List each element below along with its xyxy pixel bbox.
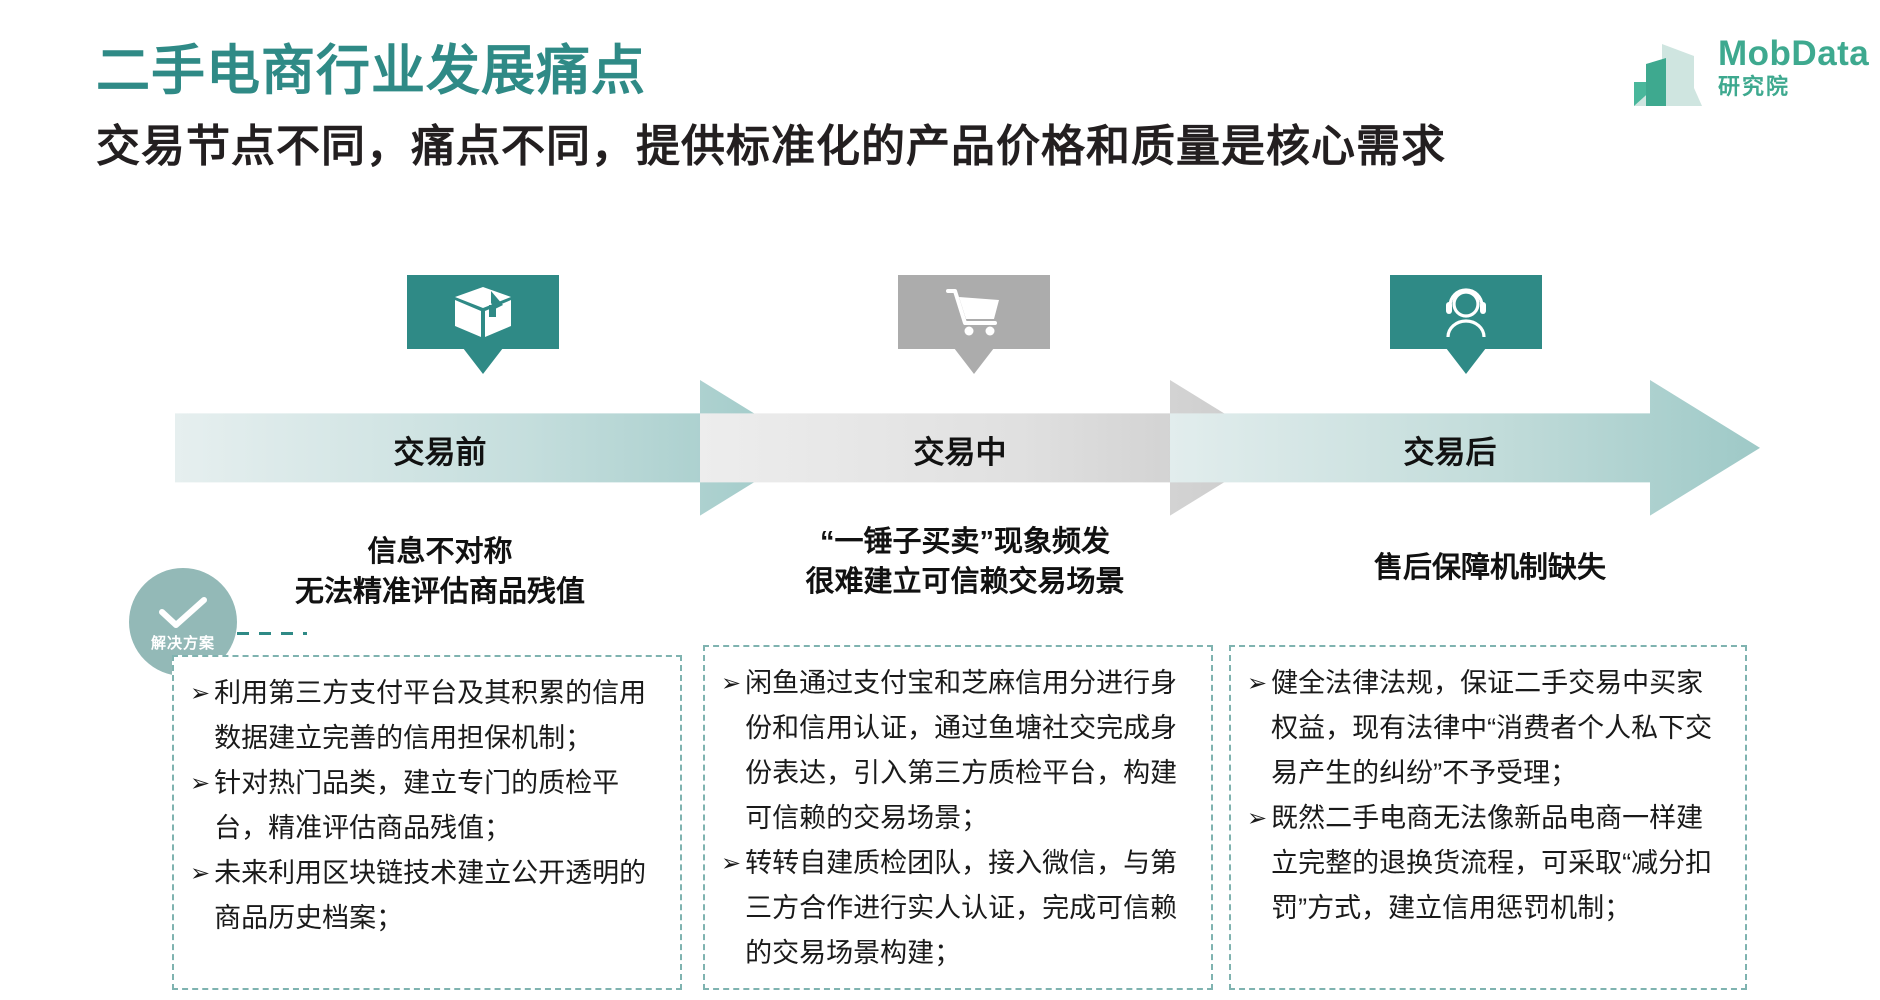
bullet-marker: ➢ <box>721 661 741 841</box>
bullet-marker: ➢ <box>190 851 210 941</box>
solution-item: ➢ 未来利用区块链技术建立公开透明的商品历史档案； <box>190 851 664 941</box>
solution-item: ➢ 针对热门品类，建立专门的质检平台，精准评估商品残值； <box>190 761 664 851</box>
bullet-marker: ➢ <box>190 671 210 761</box>
stage-icon-bubble-post <box>1390 275 1542 355</box>
pain-line: 无法精准评估商品残值 <box>180 572 700 612</box>
pain-line: 信息不对称 <box>180 532 700 572</box>
page-subtitle: 交易节点不同，痛点不同，提供标准化的产品价格和质量是核心需求 <box>96 110 1446 174</box>
solution-badge-label: 解决方案 <box>151 632 215 653</box>
bubble-tail <box>1446 348 1486 374</box>
pain-heading-during: “一锤子买卖”现象频发 很难建立可信赖交易场景 <box>705 522 1225 602</box>
headset-support-icon <box>1434 283 1498 341</box>
solution-item: ➢ 利用第三方支付平台及其积累的信用数据建立完善的信用担保机制； <box>190 671 664 761</box>
solution-box-during: ➢ 闲鱼通过支付宝和芝麻信用分进行身份和信用认证，通过鱼塘社交完成身份表达，引入… <box>703 645 1213 990</box>
mobdata-logo: MobData 研究院 <box>1632 36 1862 116</box>
pain-heading-pre: 信息不对称 无法精准评估商品残值 <box>180 532 700 612</box>
solution-item: ➢ 闲鱼通过支付宝和芝麻信用分进行身份和信用认证，通过鱼塘社交完成身份表达，引入… <box>721 661 1195 841</box>
slide-canvas: 二手电商行业发展痛点 交易节点不同，痛点不同，提供标准化的产品价格和质量是核心需… <box>0 0 1880 1000</box>
solution-item-text: 转转自建质检团队，接入微信，与第三方合作进行实人认证，完成可信赖的交易场景构建； <box>745 841 1195 976</box>
solution-item: ➢ 既然二手电商无法像新品电商一样建立完整的退换货流程，可采取“减分扣罚”方式，… <box>1247 796 1729 931</box>
stage-label-pre: 交易前 <box>340 427 540 472</box>
stage-icon-bubble-during <box>898 275 1050 355</box>
page-title: 二手电商行业发展痛点 <box>96 26 646 105</box>
mobdata-building-logo-icon <box>1632 42 1706 108</box>
stage-label-post: 交易后 <box>1350 427 1550 472</box>
solution-box-post: ➢ 健全法律法规，保证二手交易中买家权益，现有法律中“消费者个人私下交易产生的纠… <box>1229 645 1747 990</box>
solution-item-text: 闲鱼通过支付宝和芝麻信用分进行身份和信用认证，通过鱼塘社交完成身份表达，引入第三… <box>745 661 1195 841</box>
pain-heading-post: 售后保障机制缺失 <box>1230 548 1750 588</box>
stage-icon-bubble-pre <box>407 275 559 355</box>
logo-subname: 研究院 <box>1718 74 1869 100</box>
badge-connector-horizontal <box>237 632 307 635</box>
bullet-marker: ➢ <box>190 761 210 851</box>
bullet-marker: ➢ <box>1247 796 1267 931</box>
solution-item: ➢ 转转自建质检团队，接入微信，与第三方合作进行实人认证，完成可信赖的交易场景构… <box>721 841 1195 976</box>
shopping-cart-icon <box>942 283 1006 341</box>
solution-item-text: 利用第三方支付平台及其积累的信用数据建立完善的信用担保机制； <box>214 671 664 761</box>
solution-item-text: 针对热门品类，建立专门的质检平台，精准评估商品残值； <box>214 761 664 851</box>
bubble-tail <box>954 348 994 374</box>
solution-item-text: 未来利用区块链技术建立公开透明的商品历史档案； <box>214 851 664 941</box>
bubble-tail <box>463 348 503 374</box>
pain-line: 售后保障机制缺失 <box>1230 548 1750 588</box>
pain-line: “一锤子买卖”现象频发 <box>705 522 1225 562</box>
package-box-icon <box>451 283 515 341</box>
solution-box-pre: ➢ 利用第三方支付平台及其积累的信用数据建立完善的信用担保机制； ➢ 针对热门品… <box>172 655 682 990</box>
logo-name: MobData <box>1718 36 1869 72</box>
check-icon <box>157 596 209 630</box>
bullet-marker: ➢ <box>721 841 741 976</box>
logo-wordmark: MobData 研究院 <box>1718 36 1869 100</box>
stage-label-during: 交易中 <box>860 427 1060 472</box>
solution-item-text: 既然二手电商无法像新品电商一样建立完整的退换货流程，可采取“减分扣罚”方式，建立… <box>1271 796 1729 931</box>
solution-item: ➢ 健全法律法规，保证二手交易中买家权益，现有法律中“消费者个人私下交易产生的纠… <box>1247 661 1729 796</box>
bullet-marker: ➢ <box>1247 661 1267 796</box>
pain-line: 很难建立可信赖交易场景 <box>705 562 1225 602</box>
solution-item-text: 健全法律法规，保证二手交易中买家权益，现有法律中“消费者个人私下交易产生的纠纷”… <box>1271 661 1729 796</box>
